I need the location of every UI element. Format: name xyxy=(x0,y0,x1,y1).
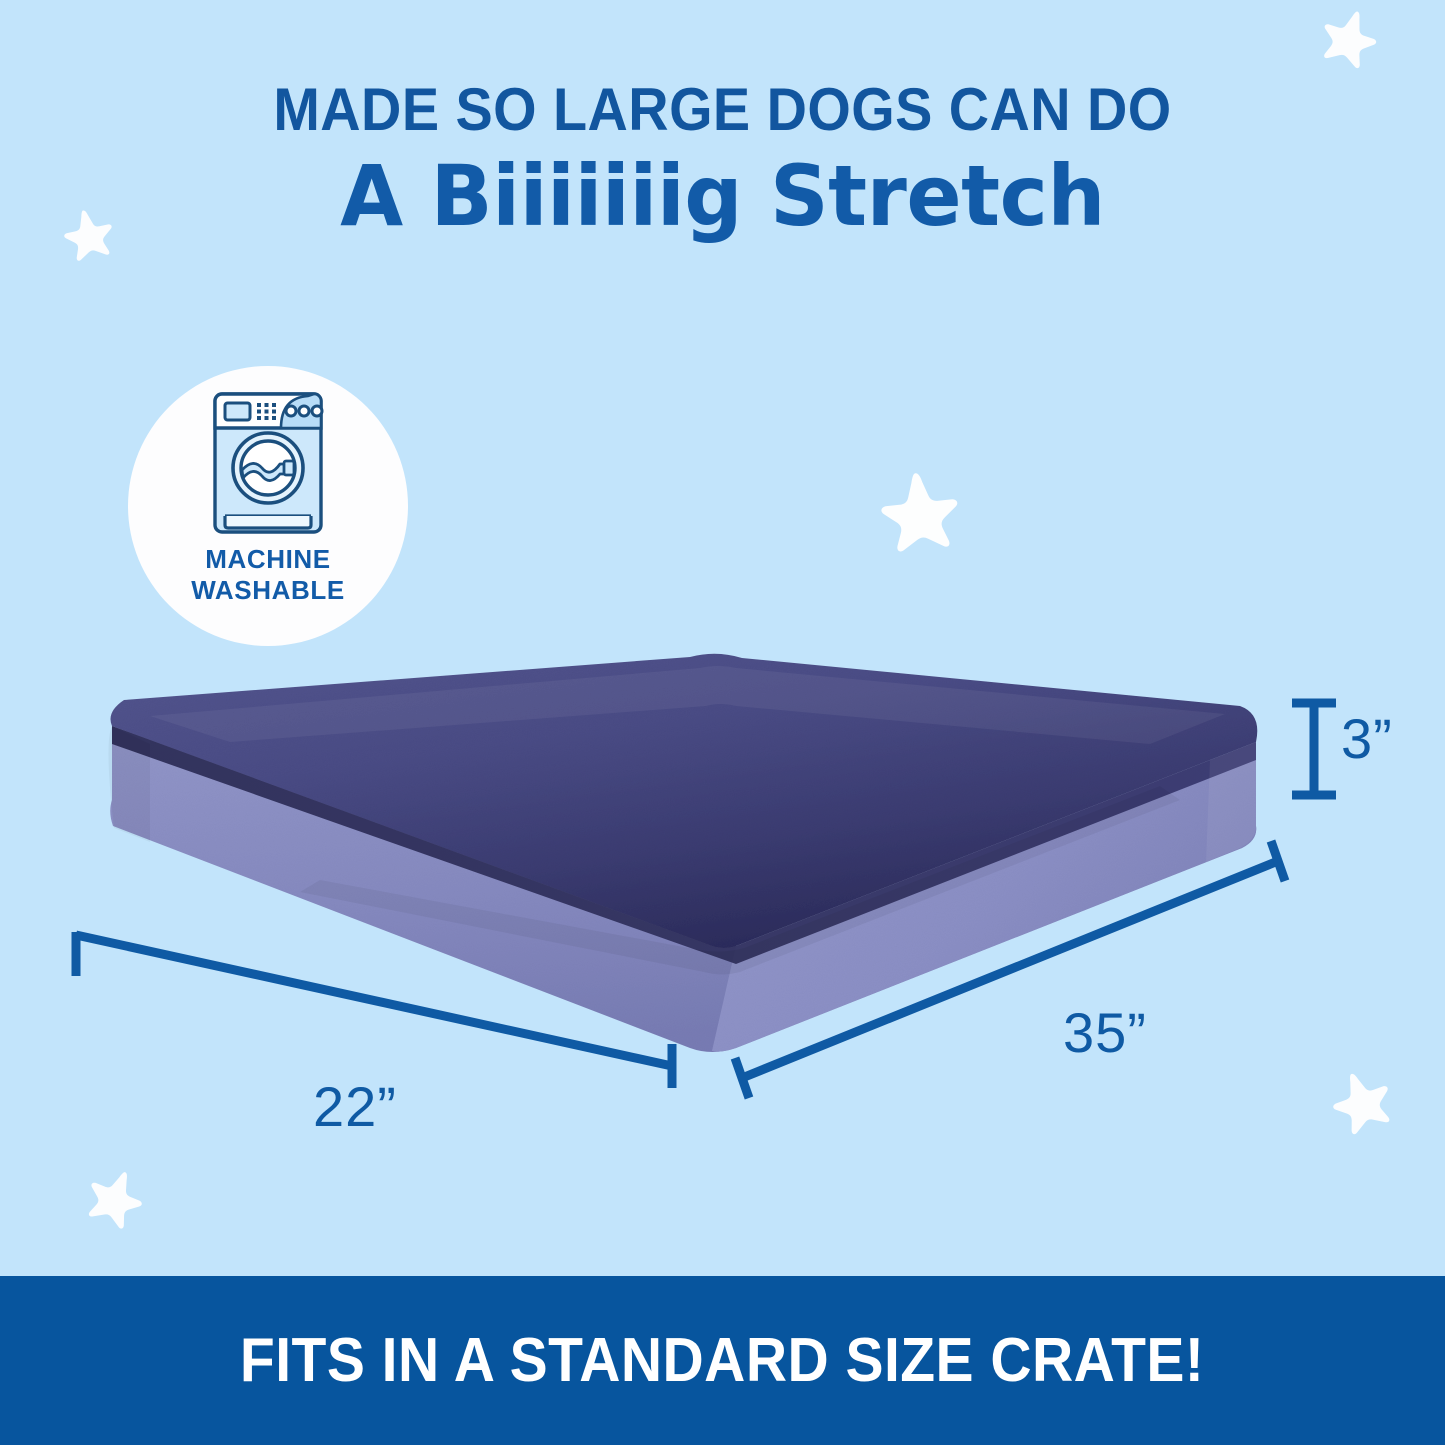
dog-bed-product xyxy=(108,654,1257,1052)
dimension-label-length: 35” xyxy=(1063,1000,1147,1065)
banner-text: FITS IN A STANDARD SIZE CRATE! xyxy=(240,1325,1204,1396)
dimension-label-width: 22” xyxy=(313,1074,397,1139)
dimension-height-3in xyxy=(1292,703,1336,795)
dimension-label-height: 3” xyxy=(1341,706,1393,771)
product-and-dimensions xyxy=(0,0,1445,1445)
product-infographic: MADE SO LARGE DOGS CAN DO A Biiiiiiig St… xyxy=(0,0,1445,1445)
bottom-banner: FITS IN A STANDARD SIZE CRATE! xyxy=(0,1276,1445,1445)
